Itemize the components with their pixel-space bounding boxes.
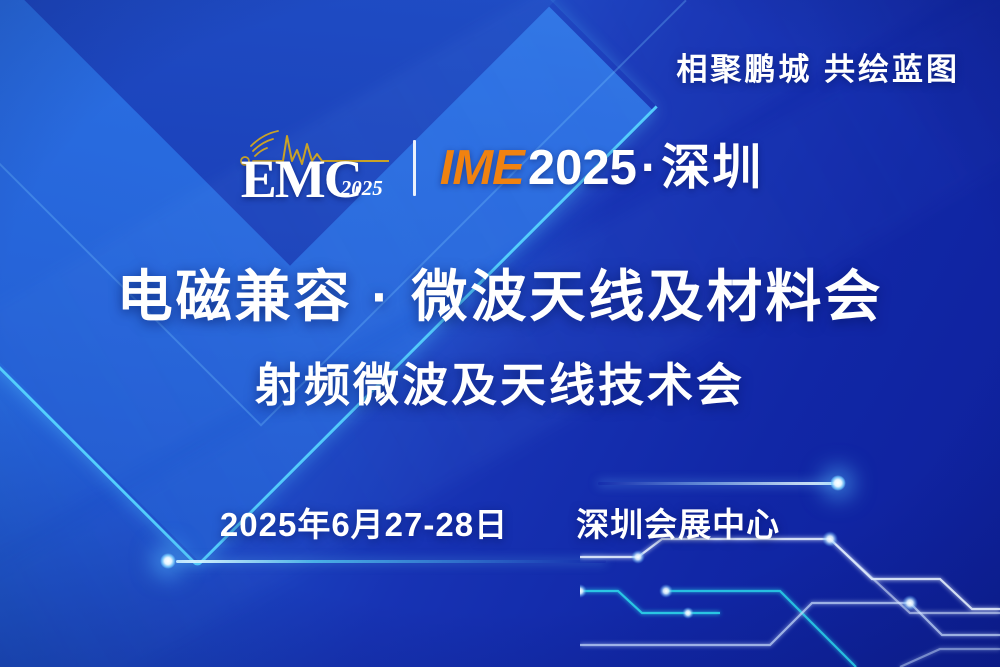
glow-beam-right	[598, 482, 838, 485]
event-venue: 深圳会展中心	[576, 498, 780, 546]
ime-wordmark: IME	[440, 144, 524, 193]
logo-divider	[413, 140, 416, 196]
event-banner: 相聚鹏城 共绘蓝图 EMC 2025 IME 2025 · 深圳	[0, 0, 1000, 667]
glow-node-left-icon	[160, 553, 176, 569]
emc-year-label: 2025	[341, 178, 383, 199]
ime-separator: ·	[641, 144, 657, 193]
emc-logo: EMC 2025	[237, 126, 389, 210]
logo-lockup: EMC 2025 IME 2025 · 深圳	[0, 126, 1000, 210]
event-date: 2025年6月27-28日	[220, 498, 508, 546]
ime-logo: IME 2025 · 深圳	[440, 144, 763, 193]
banner-tagline: 相聚鹏城 共绘蓝图	[676, 44, 960, 89]
vignette-overlay	[0, 0, 1000, 667]
glow-beam-left	[176, 560, 606, 563]
ime-city-label: 深圳	[661, 144, 763, 193]
ime-year-label: 2025	[528, 144, 637, 193]
event-title-main: 电磁兼容 · 微波天线及材料会	[0, 266, 1000, 328]
event-meta-row: 2025年6月27-28日 深圳会展中心	[0, 498, 1000, 546]
event-title-sub: 射频微波及天线技术会	[0, 360, 1000, 411]
glow-node-right-icon	[830, 475, 846, 491]
